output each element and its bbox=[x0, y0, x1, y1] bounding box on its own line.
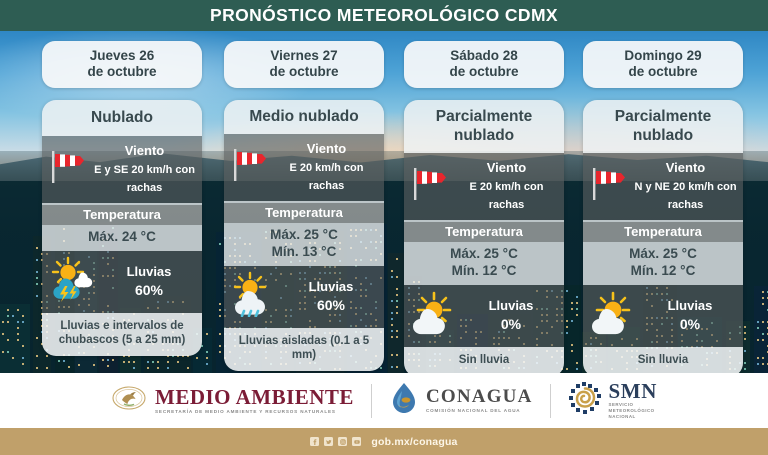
day-name: Domingo 29 bbox=[587, 48, 739, 64]
wind-section: Viento E y SE 20 km/h con rachas bbox=[42, 136, 202, 203]
temperature-section: Temperatura Máx. 25 °C Mín. 12 °C bbox=[404, 220, 564, 285]
instagram-icon[interactable] bbox=[338, 437, 347, 446]
day-month: de octubre bbox=[587, 64, 739, 80]
wind-label: Viento bbox=[487, 160, 527, 175]
sky-condition: Parcialmente nublado bbox=[404, 100, 564, 153]
wind-text: Viento E 20 km/h con rachas bbox=[274, 140, 379, 194]
day-name: Sábado 28 bbox=[408, 48, 560, 64]
day-chip: Viernes 27 de octubre bbox=[224, 41, 384, 88]
wind-flag-icon bbox=[589, 166, 629, 207]
wind-label: Viento bbox=[125, 143, 165, 158]
wind-text: Viento E y SE 20 km/h con rachas bbox=[92, 142, 197, 196]
logo-divider-2 bbox=[550, 384, 551, 418]
forecast-card-friday[interactable]: Viernes 27 de octubre Medio nublado bbox=[224, 41, 384, 371]
rain-text: Lluvias 0% bbox=[643, 297, 737, 334]
smn-spiral-icon bbox=[568, 381, 602, 420]
sun-cloud-thunder-icon bbox=[48, 256, 102, 307]
rain-percent: 0% bbox=[680, 316, 700, 332]
temperature-label: Temperatura bbox=[583, 222, 743, 242]
footer-logo-bar: MEDIO AMBIENTE SECRETARÍA DE MEDIO AMBIE… bbox=[0, 373, 768, 428]
wind-label: Viento bbox=[666, 160, 706, 175]
medio-ambiente-logo[interactable]: MEDIO AMBIENTE SECRETARÍA DE MEDIO AMBIE… bbox=[111, 380, 354, 421]
sky-condition: Medio nublado bbox=[224, 100, 384, 134]
smn-text: SMN SERVICIO METEOROLÓGICO NACIONAL bbox=[609, 381, 657, 420]
temperature-max: Máx. 25 °C bbox=[228, 226, 380, 243]
wind-value: E 20 km/h con rachas bbox=[290, 162, 364, 192]
temperature-section: Temperatura Máx. 25 °C Mín. 13 °C bbox=[224, 201, 384, 266]
temperature-label: Temperatura bbox=[42, 205, 202, 225]
wind-label: Viento bbox=[307, 141, 347, 156]
rain-text: Lluvias 0% bbox=[464, 297, 558, 334]
rain-text: Lluvias 60% bbox=[284, 278, 378, 315]
conagua-logo[interactable]: CONAGUA COMISIÓN NACIONAL DEL AGUA bbox=[389, 381, 533, 420]
day-name: Jueves 26 bbox=[46, 48, 198, 64]
medio-ambiente-title: MEDIO AMBIENTE bbox=[155, 386, 354, 408]
rain-section: Lluvias 60% bbox=[42, 251, 202, 313]
facebook-icon[interactable] bbox=[310, 437, 319, 446]
conagua-water-drop-icon bbox=[389, 381, 419, 420]
website-url[interactable]: gob.mx/conagua bbox=[371, 436, 457, 448]
bottom-social-bar: gob.mx/conagua bbox=[0, 428, 768, 455]
rain-section: Lluvias 60% bbox=[224, 266, 384, 328]
wind-flag-icon bbox=[48, 149, 88, 190]
day-month: de octubre bbox=[46, 64, 198, 80]
temperature-max: Máx. 25 °C bbox=[408, 245, 560, 262]
sun-cloud-icon bbox=[410, 290, 464, 341]
wind-flag-icon bbox=[410, 166, 450, 207]
temperature-section: Temperatura Máx. 24 °C bbox=[42, 203, 202, 251]
wind-flag-icon bbox=[230, 147, 270, 188]
rain-section: Lluvias 0% bbox=[583, 285, 743, 347]
temperature-label: Temperatura bbox=[224, 203, 384, 223]
temperature-min: Mín. 12 °C bbox=[587, 262, 739, 279]
forecast-card-thursday[interactable]: Jueves 26 de octubre Nublado bbox=[42, 41, 202, 356]
wind-value: E y SE 20 km/h con rachas bbox=[94, 164, 195, 194]
medio-ambiente-subtitle: SECRETARÍA DE MEDIO AMBIENTE Y RECURSOS … bbox=[155, 408, 354, 415]
youtube-icon[interactable] bbox=[352, 437, 361, 446]
wind-text: Viento N y NE 20 km/h con rachas bbox=[633, 159, 738, 213]
day-chip: Sábado 28 de octubre bbox=[404, 41, 564, 88]
rain-text: Lluvias 60% bbox=[102, 263, 196, 300]
rain-percent: 60% bbox=[135, 282, 163, 298]
wind-section: Viento N y NE 20 km/h con rachas bbox=[583, 153, 743, 220]
sky-condition: Parcialmente nublado bbox=[583, 100, 743, 153]
rain-label: Lluvias bbox=[489, 298, 534, 313]
logo-divider-1 bbox=[371, 384, 372, 418]
wind-value: N y NE 20 km/h con rachas bbox=[634, 181, 736, 211]
rain-percent: 60% bbox=[317, 297, 345, 313]
rain-label: Lluvias bbox=[127, 264, 172, 279]
mexico-eagle-seal-icon bbox=[111, 380, 147, 421]
rain-percent: 0% bbox=[501, 316, 521, 332]
smn-subtitle-3: NACIONAL bbox=[609, 414, 657, 420]
smn-title: SMN bbox=[609, 381, 657, 402]
day-month: de octubre bbox=[228, 64, 380, 80]
wind-value: E 20 km/h con rachas bbox=[470, 181, 544, 211]
forecast-panel: Nublado Viento E y SE 20 km/h con bbox=[42, 100, 202, 356]
forecast-panel: Parcialmente nublado Viento N y N bbox=[583, 100, 743, 377]
day-chip: Domingo 29 de octubre bbox=[583, 41, 743, 88]
sun-cloud-rain-icon bbox=[230, 271, 284, 322]
temperature-max: Máx. 24 °C bbox=[46, 228, 198, 245]
temperature-min: Mín. 12 °C bbox=[408, 262, 560, 279]
day-month: de octubre bbox=[408, 64, 560, 80]
sun-cloud-icon bbox=[589, 290, 643, 341]
rain-note: Lluvias aisladas (0.1 a 5 mm) bbox=[224, 328, 384, 371]
forecast-card-row: Jueves 26 de octubre Nublado bbox=[0, 31, 768, 373]
forecast-card-sunday[interactable]: Domingo 29 de octubre Parcialmente nubla… bbox=[583, 41, 743, 377]
forecast-panel: Medio nublado Viento E 20 km/h co bbox=[224, 100, 384, 371]
conagua-subtitle: COMISIÓN NACIONAL DEL AGUA bbox=[426, 407, 533, 414]
conagua-title: CONAGUA bbox=[426, 387, 533, 407]
twitter-icon[interactable] bbox=[324, 437, 333, 446]
sky-condition: Nublado bbox=[42, 100, 202, 136]
temperature-max: Máx. 25 °C bbox=[587, 245, 739, 262]
smn-logo[interactable]: SMN SERVICIO METEOROLÓGICO NACIONAL bbox=[568, 381, 657, 420]
day-name: Viernes 27 bbox=[228, 48, 380, 64]
temperature-section: Temperatura Máx. 25 °C Mín. 12 °C bbox=[583, 220, 743, 285]
day-chip: Jueves 26 de octubre bbox=[42, 41, 202, 88]
forecast-card-saturday[interactable]: Sábado 28 de octubre Parcialmente nublad… bbox=[404, 41, 564, 377]
temperature-label: Temperatura bbox=[404, 222, 564, 242]
wind-text: Viento E 20 km/h con rachas bbox=[454, 159, 559, 213]
rain-label: Lluvias bbox=[668, 298, 713, 313]
wind-section: Viento E 20 km/h con rachas bbox=[224, 134, 384, 201]
rain-note: Lluvias e intervalos de chubascos (5 a 2… bbox=[42, 313, 202, 356]
temperature-min: Mín. 13 °C bbox=[228, 243, 380, 260]
page-header: PRONÓSTICO METEOROLÓGICO CDMX bbox=[0, 0, 768, 31]
page-title: PRONÓSTICO METEOROLÓGICO CDMX bbox=[210, 5, 558, 26]
wind-section: Viento E 20 km/h con rachas bbox=[404, 153, 564, 220]
forecast-panel: Parcialmente nublado Viento E 20 bbox=[404, 100, 564, 377]
medio-ambiente-text: MEDIO AMBIENTE SECRETARÍA DE MEDIO AMBIE… bbox=[155, 386, 354, 415]
rain-label: Lluvias bbox=[309, 279, 354, 294]
conagua-text: CONAGUA COMISIÓN NACIONAL DEL AGUA bbox=[426, 387, 533, 414]
rain-section: Lluvias 0% bbox=[404, 285, 564, 347]
